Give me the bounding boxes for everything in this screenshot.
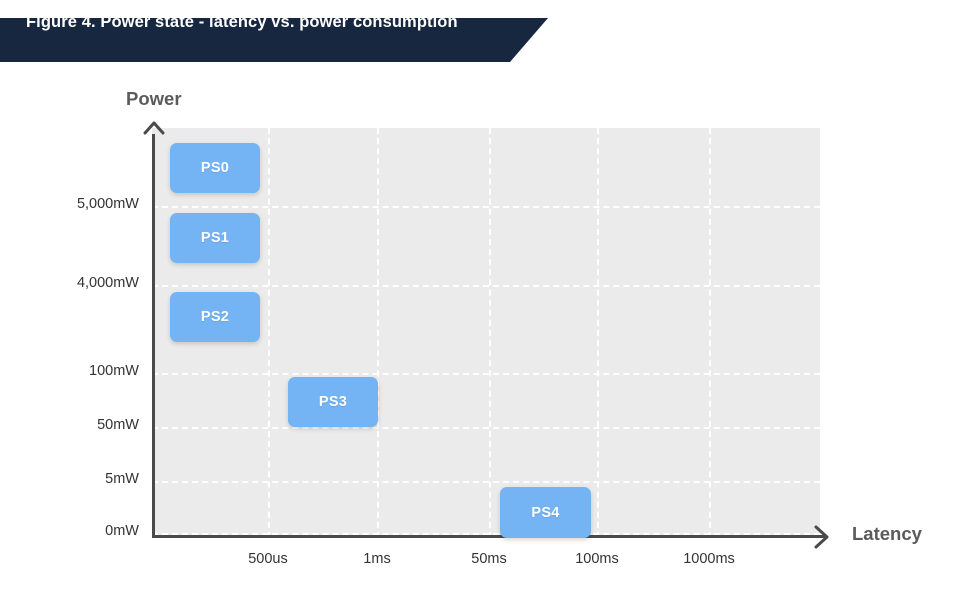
x-axis-title: Latency [852,523,922,545]
power-state-label: PS4 [531,505,559,521]
y-tick-label: 4,000mW [77,275,139,291]
power-state-label: PS2 [201,309,229,325]
gridline-vertical-2 [489,128,491,538]
y-axis-title: Power [126,88,182,110]
gridline-vertical-3 [597,128,599,538]
x-tick-label: 50ms [471,551,506,567]
power-state-label: PS1 [201,230,229,246]
y-tick-label: 5,000mW [77,196,139,212]
y-tick-label: 100mW [89,363,139,379]
power-state-box-ps3[interactable]: PS3 [288,377,378,427]
gridline-horizontal-3 [152,427,820,429]
y-tick-label: 0mW [105,523,139,539]
y-axis-arrow-icon [142,118,166,142]
gridline-horizontal-1 [152,285,820,287]
power-state-box-ps4[interactable]: PS4 [500,487,591,538]
figure-title: Figure 4. Power state - latency vs. powe… [26,0,458,44]
x-axis-arrow-icon [810,524,836,550]
power-state-box-ps2[interactable]: PS2 [170,292,260,342]
gridline-horizontal-0 [152,206,820,208]
y-axis-line [152,134,155,538]
gridline-vertical-1 [377,128,379,538]
x-tick-label: 1000ms [683,551,735,567]
figure-container: Figure 4. Power state - latency vs. powe… [0,0,980,613]
power-state-label: PS0 [201,160,229,176]
y-tick-label: 50mW [97,417,139,433]
power-state-box-ps1[interactable]: PS1 [170,213,260,263]
gridline-horizontal-4 [152,481,820,483]
power-state-box-ps0[interactable]: PS0 [170,143,260,193]
gridline-vertical-4 [709,128,711,538]
x-tick-label: 500us [248,551,288,567]
gridline-horizontal-2 [152,373,820,375]
y-tick-label: 5mW [105,471,139,487]
gridline-vertical-0 [268,128,270,538]
x-axis-line [152,535,826,538]
x-tick-label: 1ms [363,551,390,567]
power-state-label: PS3 [319,394,347,410]
x-tick-label: 100ms [575,551,619,567]
